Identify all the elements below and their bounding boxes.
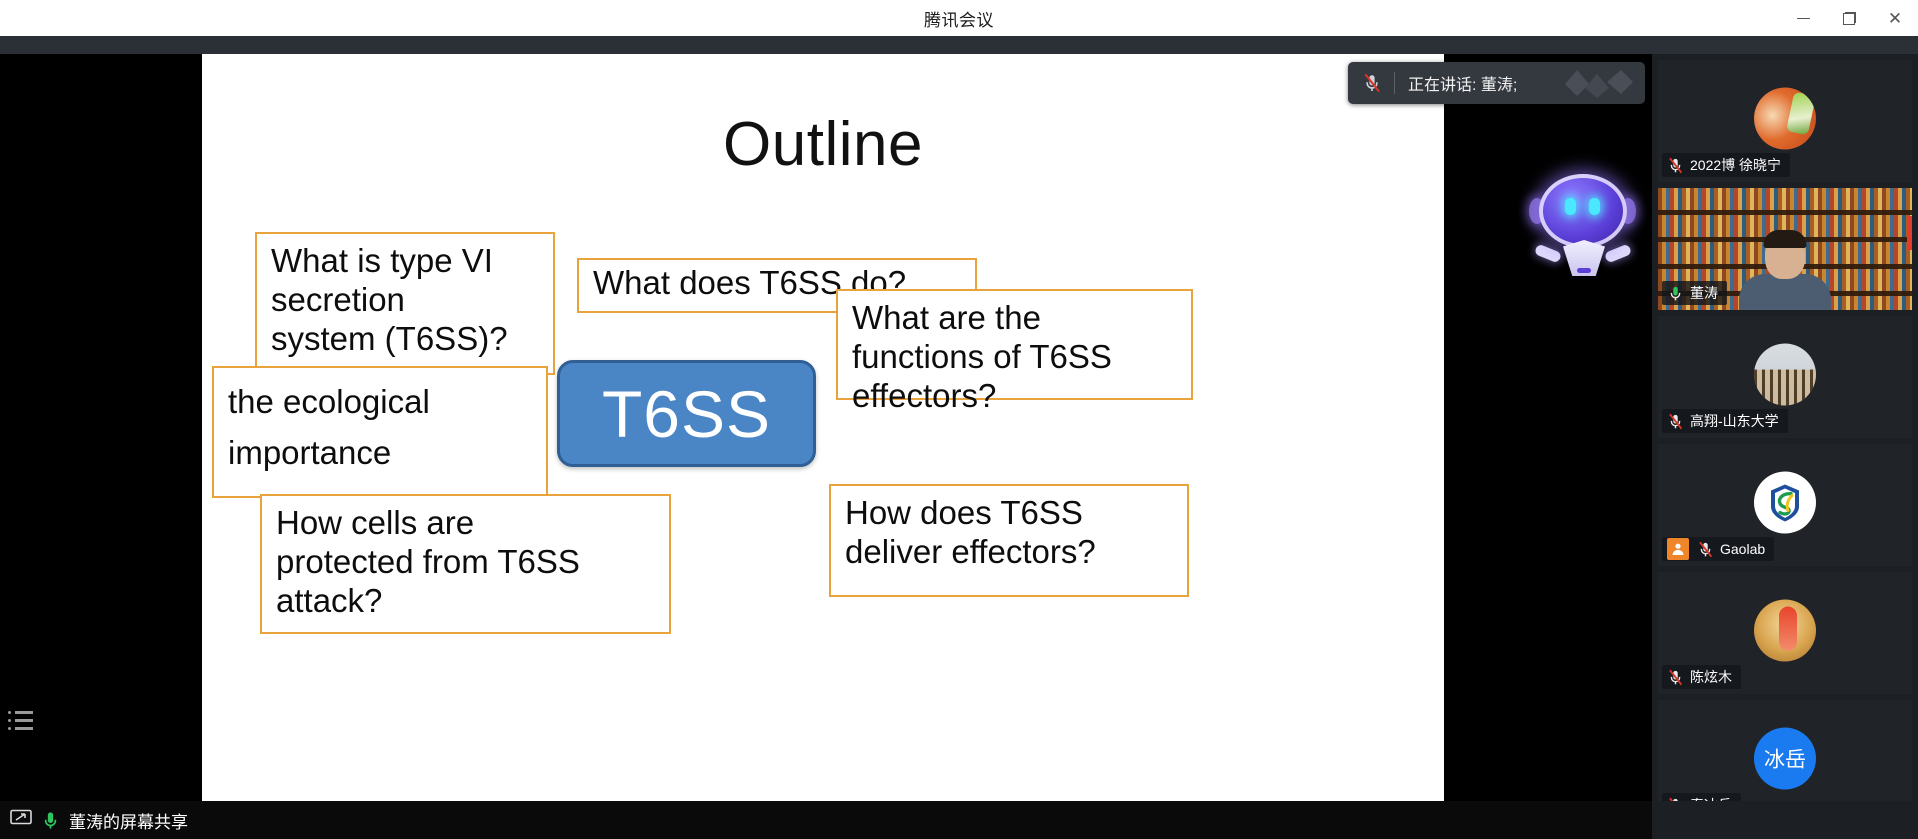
participant-name: Gaolab — [1720, 541, 1765, 557]
avatar: 冰岳 — [1754, 728, 1816, 790]
avatar — [1754, 600, 1816, 662]
speaking-label: 正在讲话: 董涛; — [1408, 71, 1517, 95]
box-what-is-t6ss: What is type VI secretion system (T6SS)? — [255, 232, 555, 375]
participant-rail[interactable]: 2022博 徐晓宁 — [1652, 54, 1918, 839]
rail-top-strip — [1652, 36, 1918, 54]
screen-share-bar: 董涛的屏幕共享 — [0, 801, 1652, 839]
mic-muted-icon — [1667, 668, 1684, 687]
window-controls: ✕ — [1780, 0, 1918, 36]
titlebar: 腾讯会议 ✕ — [0, 0, 1918, 36]
mic-muted-icon — [1667, 156, 1684, 175]
avatar — [1754, 344, 1816, 406]
participant-namebar: 2022博 徐晓宁 — [1662, 153, 1790, 177]
mic-muted-icon — [1667, 412, 1684, 431]
screen-share-icon — [10, 809, 32, 832]
robot-assistant-icon[interactable] — [1519, 168, 1647, 288]
participant-tile[interactable]: 2022博 徐晓宁 — [1658, 60, 1912, 182]
box-how-cells-protected: How cells are protected from T6SS attack… — [260, 494, 671, 634]
participant-tile[interactable]: 董涛 — [1658, 188, 1912, 310]
center-node-t6ss: T6SS — [557, 360, 816, 467]
minimize-icon — [1797, 18, 1810, 19]
participant-name: 陈炫木 — [1690, 667, 1732, 687]
participant-tile[interactable]: Gaolab — [1658, 444, 1912, 566]
robot-arm-left-icon — [1534, 244, 1562, 264]
app-chrome-strip — [0, 36, 1918, 54]
robot-head-icon — [1539, 174, 1627, 248]
close-icon: ✕ — [1888, 10, 1902, 27]
presentation-slide: Outline What is type VI secretion system… — [202, 54, 1444, 818]
participant-name: 2022博 徐晓宁 — [1690, 155, 1781, 175]
robot-mouth-icon — [1577, 268, 1591, 273]
mic-active-icon — [41, 810, 60, 831]
robot-arm-right-icon — [1604, 244, 1632, 264]
robot-eye-left-icon — [1565, 198, 1576, 215]
participant-namebar: 陈炫木 — [1662, 665, 1741, 689]
maximize-button[interactable] — [1826, 0, 1872, 36]
slide-title: Outline — [202, 109, 1444, 180]
list-view-icon[interactable] — [8, 709, 34, 731]
screen-share-label: 董涛的屏幕共享 — [69, 808, 188, 833]
participant-tile[interactable]: 陈炫木 — [1658, 572, 1912, 694]
close-button[interactable]: ✕ — [1872, 0, 1918, 36]
mic-muted-icon — [1697, 540, 1714, 559]
participant-namebar: 董涛 — [1662, 281, 1727, 305]
meeting-window: 腾讯会议 ✕ Outline What is type VI secretion… — [0, 0, 1918, 839]
minimize-button[interactable] — [1780, 0, 1826, 36]
robot-eye-right-icon — [1589, 198, 1600, 215]
participant-namebar: 高翔-山东大学 — [1662, 409, 1788, 433]
box-how-delivers-effectors: How does T6SS deliver effectors? — [829, 484, 1189, 597]
mic-active-icon — [1667, 284, 1684, 303]
banner-decoration-icon — [1563, 68, 1635, 98]
box-ecological-importance: the ecological importance — [212, 366, 548, 498]
avatar-initials: 冰岳 — [1764, 744, 1806, 774]
participant-name: 高翔-山东大学 — [1690, 411, 1779, 431]
participant-name: 董涛 — [1690, 283, 1718, 303]
host-badge-icon — [1667, 538, 1689, 560]
sklmt-logo-icon — [1762, 480, 1808, 526]
avatar — [1754, 88, 1816, 150]
speaking-banner: 正在讲话: 董涛; — [1348, 62, 1645, 104]
participant-namebar: Gaolab — [1662, 537, 1774, 561]
avatar — [1754, 472, 1816, 534]
participant-tile[interactable]: 高翔-山东大学 — [1658, 316, 1912, 438]
restore-icon — [1843, 12, 1856, 25]
shared-screen-stage[interactable]: Outline What is type VI secretion system… — [0, 54, 1652, 801]
banner-divider — [1394, 72, 1395, 94]
mic-muted-icon — [1362, 72, 1382, 94]
box-functions-of-effectors: What are the functions of T6SS effectors… — [836, 289, 1193, 400]
window-title: 腾讯会议 — [924, 6, 994, 31]
